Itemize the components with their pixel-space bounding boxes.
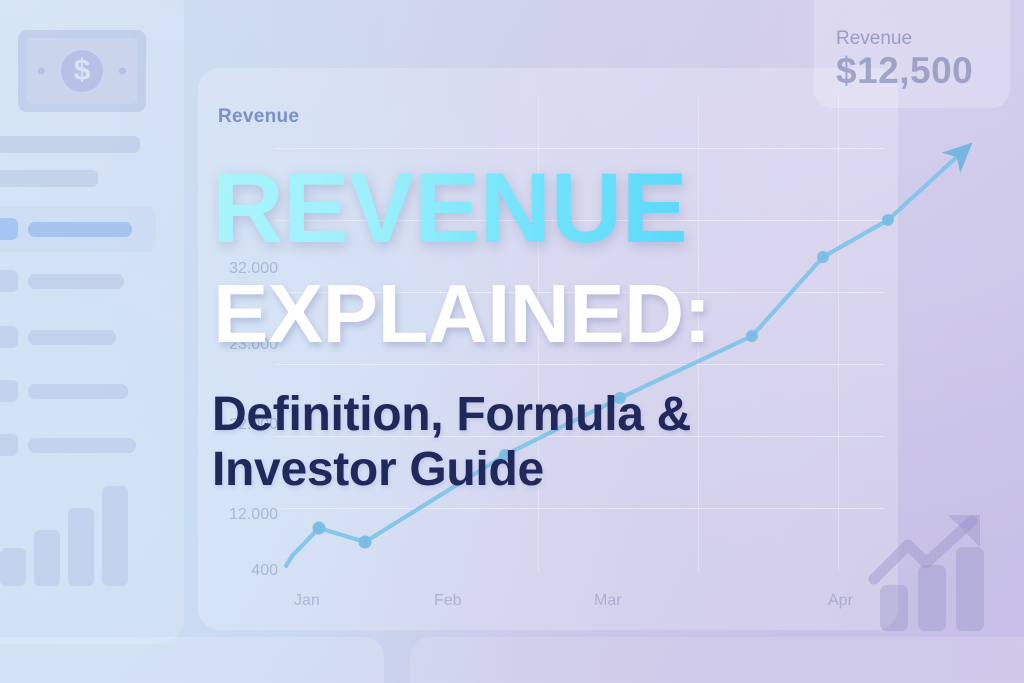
headline-line-2: EXPLAINED: <box>213 272 711 355</box>
headline-block: REVENUE EXPLAINED: Definition, Formula &… <box>0 0 1024 683</box>
poster-canvas: $ Revenue <box>0 0 1024 683</box>
headline-subtitle: Definition, Formula & Investor Guide <box>212 388 832 497</box>
headline-line-1: REVENUE <box>212 160 687 255</box>
